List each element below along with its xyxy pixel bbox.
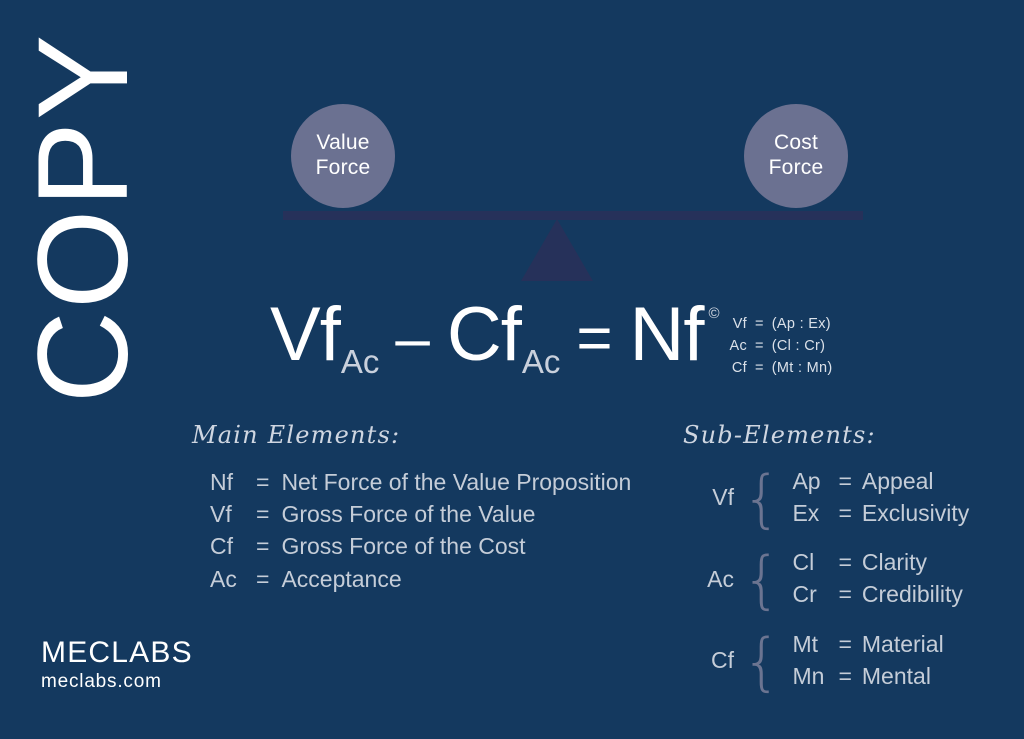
sub-element-key: Mn xyxy=(792,661,828,693)
formula-term-cf-subscript: Ac xyxy=(522,345,561,378)
main-element-value: Net Force of the Value Proposition xyxy=(281,466,631,498)
table-row: Ap = Appeal xyxy=(792,466,969,498)
sub-element-value: Mental xyxy=(862,661,944,693)
table-row: Ac = (Cl : Cr) xyxy=(725,335,832,357)
formula-term-vf-base: Vf xyxy=(270,300,340,370)
sub-group-rows: Cl = Clarity Cr = Credibility xyxy=(792,547,962,610)
sub-element-value: Clarity xyxy=(862,547,963,579)
sub-group-body: Ap = Appeal Ex = Exclusivity xyxy=(792,466,969,529)
value-force-line1: Value xyxy=(316,131,369,156)
legend-key: Vf xyxy=(725,313,747,335)
formula-term-nf: Nf xyxy=(630,300,704,370)
sub-elements-heading: Sub-Elements: xyxy=(683,421,876,449)
table-row: Cl = Clarity xyxy=(792,547,962,579)
legend-equals: = xyxy=(747,313,772,335)
table-row: Cf = Gross Force of the Cost xyxy=(210,530,631,562)
sub-element-equals: = xyxy=(828,579,861,611)
main-element-value: Acceptance xyxy=(281,563,631,595)
brand-url: meclabs.com xyxy=(41,671,193,694)
legend-value: (Ap : Ex) xyxy=(772,313,833,335)
main-elements-body: Nf = Net Force of the Value Proposition … xyxy=(210,466,631,595)
sub-group-key: Ac xyxy=(700,568,734,591)
formula-term-nf-base: Nf xyxy=(630,300,704,370)
main-element-equals: = xyxy=(244,498,281,530)
formula-term-vf: VfAc xyxy=(270,300,378,370)
table-row: Vf = (Ap : Ex) xyxy=(725,313,832,335)
balance-scale-illustration: Value Force Cost Force xyxy=(0,0,1024,290)
cost-force-line1: Cost xyxy=(774,131,818,156)
table-row: Ac = Acceptance xyxy=(210,563,631,595)
sub-element-value: Exclusivity xyxy=(862,498,969,530)
main-element-key: Nf xyxy=(210,466,244,498)
formula-term-cf: CfAc xyxy=(447,300,560,370)
sub-group-rows: Mt = Material Mn = Mental xyxy=(792,629,943,692)
sub-group-body: Cl = Clarity Cr = Credibility xyxy=(792,547,962,610)
main-element-equals: = xyxy=(244,530,281,562)
slide-canvas: COPY Value Force Cost Force VfAc – CfAc … xyxy=(0,0,1024,739)
sub-element-group-ac: Ac { Cl = Clarity Cr = Credibility xyxy=(700,547,969,610)
sub-element-equals: = xyxy=(828,629,861,661)
sub-element-key: Ap xyxy=(792,466,828,498)
legend-equals: = xyxy=(747,357,772,379)
cost-force-circle: Cost Force xyxy=(744,104,848,208)
formula-term-vf-subscript: Ac xyxy=(341,345,380,378)
legend-key: Cf xyxy=(725,357,747,379)
sub-group-table: Ap = Appeal Ex = Exclusivity xyxy=(792,466,969,529)
main-element-value: Gross Force of the Cost xyxy=(281,530,631,562)
sub-elements-list: Vf { Ap = Appeal Ex = Exclusivity xyxy=(700,466,969,710)
main-elements-list: Nf = Net Force of the Value Proposition … xyxy=(210,466,631,595)
value-force-circle: Value Force xyxy=(291,104,395,208)
legend-equals: = xyxy=(747,335,772,357)
sub-element-key: Mt xyxy=(792,629,828,661)
table-row: Cr = Credibility xyxy=(792,579,962,611)
sub-element-group-cf: Cf { Mt = Material Mn = Mental xyxy=(700,629,969,692)
sub-element-value: Appeal xyxy=(862,466,969,498)
formula-term-cf-base: Cf xyxy=(447,300,521,370)
sub-element-equals: = xyxy=(828,498,861,530)
sub-group-rows: Ap = Appeal Ex = Exclusivity xyxy=(792,466,969,529)
copyright-icon: © xyxy=(709,306,720,321)
sub-element-key: Ex xyxy=(792,498,828,530)
main-element-equals: = xyxy=(244,466,281,498)
formula-minus-operator: – xyxy=(395,308,429,370)
sub-element-value: Material xyxy=(862,629,944,661)
brand-name: MECLABS xyxy=(41,637,193,669)
scale-fulcrum-triangle xyxy=(521,219,593,281)
table-row: Cf = (Mt : Mn) xyxy=(725,357,832,379)
table-row: Ex = Exclusivity xyxy=(792,498,969,530)
main-element-key: Vf xyxy=(210,498,244,530)
table-row: Nf = Net Force of the Value Proposition xyxy=(210,466,631,498)
brand-block: MECLABS meclabs.com xyxy=(41,637,193,694)
main-element-key: Cf xyxy=(210,530,244,562)
legend-key: Ac xyxy=(725,335,747,357)
heuristic-formula: VfAc – CfAc = Nf © xyxy=(270,300,720,396)
legend-value: (Mt : Mn) xyxy=(772,357,833,379)
table-row: Mt = Material xyxy=(792,629,943,661)
sub-element-group-vf: Vf { Ap = Appeal Ex = Exclusivity xyxy=(700,466,969,529)
sub-group-body: Mt = Material Mn = Mental xyxy=(792,629,943,692)
sub-element-value: Credibility xyxy=(862,579,963,611)
formula-legend-body: Vf = (Ap : Ex) Ac = (Cl : Cr) Cf = (Mt :… xyxy=(725,313,832,379)
sub-group-key: Cf xyxy=(700,649,734,672)
main-element-key: Ac xyxy=(210,563,244,595)
table-row: Vf = Gross Force of the Value xyxy=(210,498,631,530)
legend-value: (Cl : Cr) xyxy=(772,335,833,357)
main-element-equals: = xyxy=(244,563,281,595)
main-elements-table: Nf = Net Force of the Value Proposition … xyxy=(210,466,631,595)
sub-group-key: Vf xyxy=(700,486,734,509)
sub-group-table: Cl = Clarity Cr = Credibility xyxy=(792,547,962,610)
sub-element-equals: = xyxy=(828,547,861,579)
formula-legend: Vf = (Ap : Ex) Ac = (Cl : Cr) Cf = (Mt :… xyxy=(725,313,832,379)
table-row: Mn = Mental xyxy=(792,661,943,693)
sub-element-key: Cl xyxy=(792,547,828,579)
sub-element-key: Cr xyxy=(792,579,828,611)
cost-force-line2: Force xyxy=(769,156,824,181)
sub-element-equals: = xyxy=(828,466,861,498)
formula-equals-operator: = xyxy=(576,308,612,370)
sub-element-equals: = xyxy=(828,661,861,693)
formula-legend-table: Vf = (Ap : Ex) Ac = (Cl : Cr) Cf = (Mt :… xyxy=(725,313,832,379)
main-element-value: Gross Force of the Value xyxy=(281,498,631,530)
main-elements-heading: Main Elements: xyxy=(192,421,400,449)
sub-group-table: Mt = Material Mn = Mental xyxy=(792,629,943,692)
value-force-line2: Force xyxy=(316,156,371,181)
